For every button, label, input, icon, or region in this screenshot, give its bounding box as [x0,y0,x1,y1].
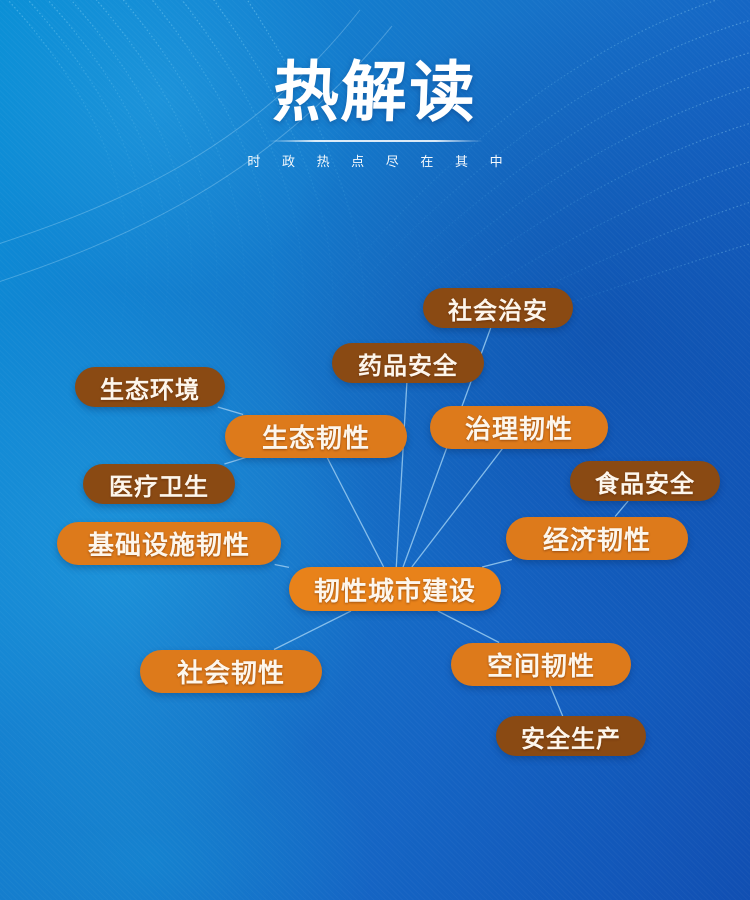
node-label: 食品安全 [595,464,695,499]
brand-subtitle: 时 政 热 点 尽 在 其 中 [0,151,750,170]
poster-canvas: 热解读 时 政 热 点 尽 在 其 中 韧性城市建设社会治安药品安全生态环境生态… [0,0,750,900]
header: 热解读 时 政 热 点 尽 在 其 中 [0,60,750,170]
diagram-node-n6[interactable]: 医疗卫生 [83,464,235,504]
node-label: 韧性城市建设 [314,571,476,608]
logo-divider [268,140,483,142]
node-label: 经济韧性 [543,520,651,557]
node-label: 社会治安 [448,291,548,326]
diagram-node-n1[interactable]: 社会治安 [423,288,573,328]
node-label: 治理韧性 [465,409,573,446]
node-label: 药品安全 [358,346,458,381]
diagram-node-n4[interactable]: 生态韧性 [225,415,407,458]
node-label: 空间韧性 [487,646,595,683]
brand-logo-text: 热解读 [0,60,750,126]
diagram-node-n5[interactable]: 治理韧性 [430,406,608,449]
diagram-node-n3[interactable]: 生态环境 [75,367,225,407]
diagram-node-n8[interactable]: 基础设施韧性 [57,522,281,565]
diagram-node-n11[interactable]: 空间韧性 [451,643,631,686]
diagram-node-n10[interactable]: 社会韧性 [140,650,322,693]
node-label: 医疗卫生 [109,467,209,502]
node-label: 社会韧性 [177,653,285,690]
diagram-node-n9[interactable]: 经济韧性 [506,517,688,560]
node-label: 安全生产 [521,719,621,754]
node-label: 生态环境 [100,370,200,405]
diagram-node-core[interactable]: 韧性城市建设 [289,567,501,611]
node-label: 基础设施韧性 [88,525,250,562]
diagram-node-n2[interactable]: 药品安全 [332,343,484,383]
diagram-node-n12[interactable]: 安全生产 [496,716,646,756]
node-label: 生态韧性 [262,418,370,455]
diagram-node-n7[interactable]: 食品安全 [570,461,720,501]
